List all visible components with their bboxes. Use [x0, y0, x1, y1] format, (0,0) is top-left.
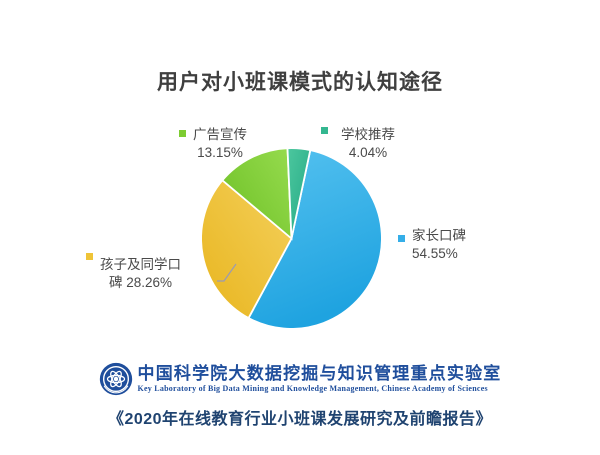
lab-name-en: Key Laboratory of Big Data Mining and Kn… [138, 384, 502, 394]
lab-text-block: 中国科学院大数据挖掘与知识管理重点实验室 Key Laboratory of B… [138, 364, 502, 394]
pie-chart [202, 149, 381, 328]
legend-marker-kids [86, 253, 93, 260]
pie-label-school-name: 学校推荐 [341, 126, 395, 144]
pie-label-kids-name: 孩子及同学口 [100, 256, 181, 274]
pie-label-parent-value: 54.55% [412, 245, 466, 263]
lab-branding: 中国科学院大数据挖掘与知识管理重点实验室 Key Laboratory of B… [0, 362, 600, 396]
pie-label-school-value: 4.04% [341, 144, 395, 162]
footer: 中国科学院大数据挖掘与知识管理重点实验室 Key Laboratory of B… [0, 362, 600, 429]
pie-label-parent: 家长口碑 54.55% [412, 227, 466, 263]
pie-label-kids: 孩子及同学口 碑 28.26% [100, 256, 181, 292]
leader-line-kids [216, 262, 238, 284]
pie-label-kids-value: 碑 28.26% [100, 274, 181, 292]
pie-chart-svg [202, 149, 381, 328]
legend-marker-ad [179, 130, 186, 137]
lab-name-cn: 中国科学院大数据挖掘与知识管理重点实验室 [138, 364, 502, 384]
legend-marker-parent [398, 235, 405, 242]
legend-marker-school [321, 127, 328, 134]
pie-label-ad-name: 广告宣传 [193, 126, 247, 144]
pie-label-school: 学校推荐 4.04% [341, 126, 395, 162]
report-title: 《2020年在线教育行业小班课发展研究及前瞻报告》 [0, 405, 600, 429]
pie-label-ad: 广告宣传 13.15% [193, 126, 247, 162]
cas-logo-icon [99, 362, 133, 396]
pie-label-parent-name: 家长口碑 [412, 227, 466, 245]
pie-label-ad-value: 13.15% [193, 144, 247, 162]
page-title: 用户对小班课模式的认知途径 [0, 66, 600, 96]
